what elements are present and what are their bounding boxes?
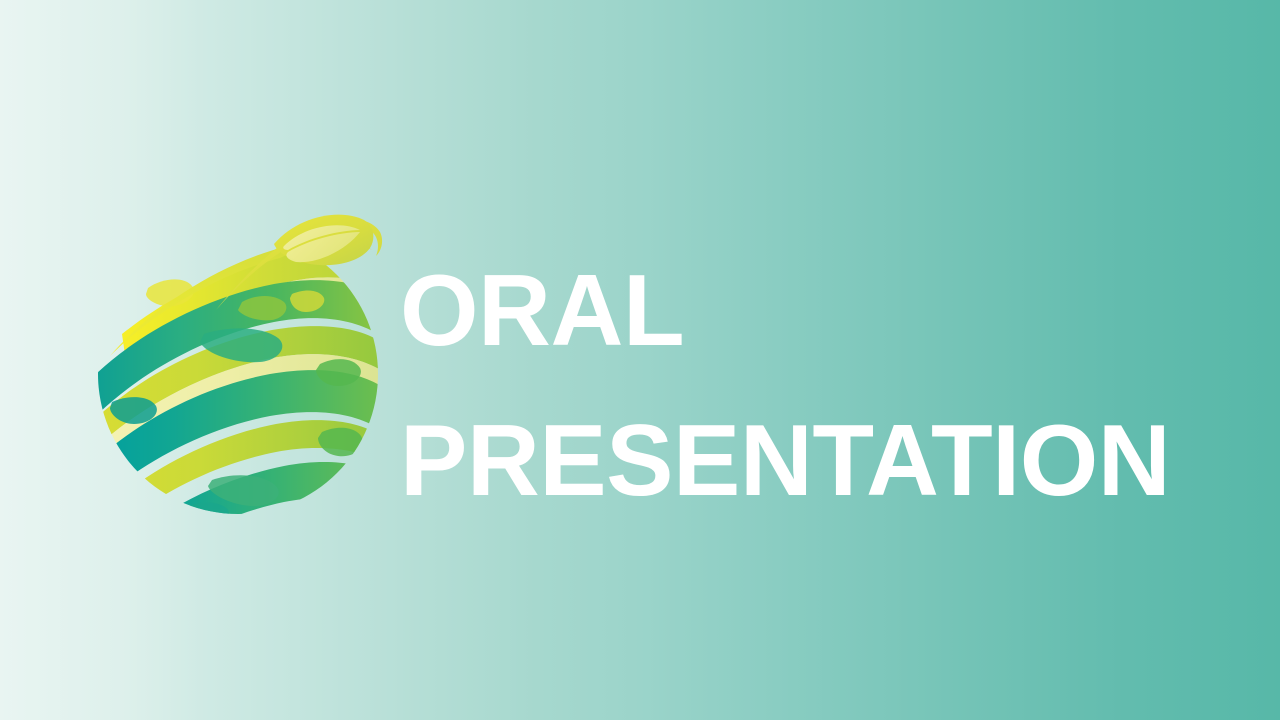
title-line-oral: ORAL — [400, 236, 1200, 386]
globe-ribbon-leaf-logo — [92, 206, 384, 518]
globe-ribbon-bands — [92, 249, 384, 518]
slide-canvas: ORAL PRESENTATION — [0, 0, 1280, 720]
slide-title-block: ORAL PRESENTATION — [400, 236, 1200, 536]
leaf-icon — [274, 215, 373, 266]
title-line-presentation: PRESENTATION — [400, 386, 1200, 536]
